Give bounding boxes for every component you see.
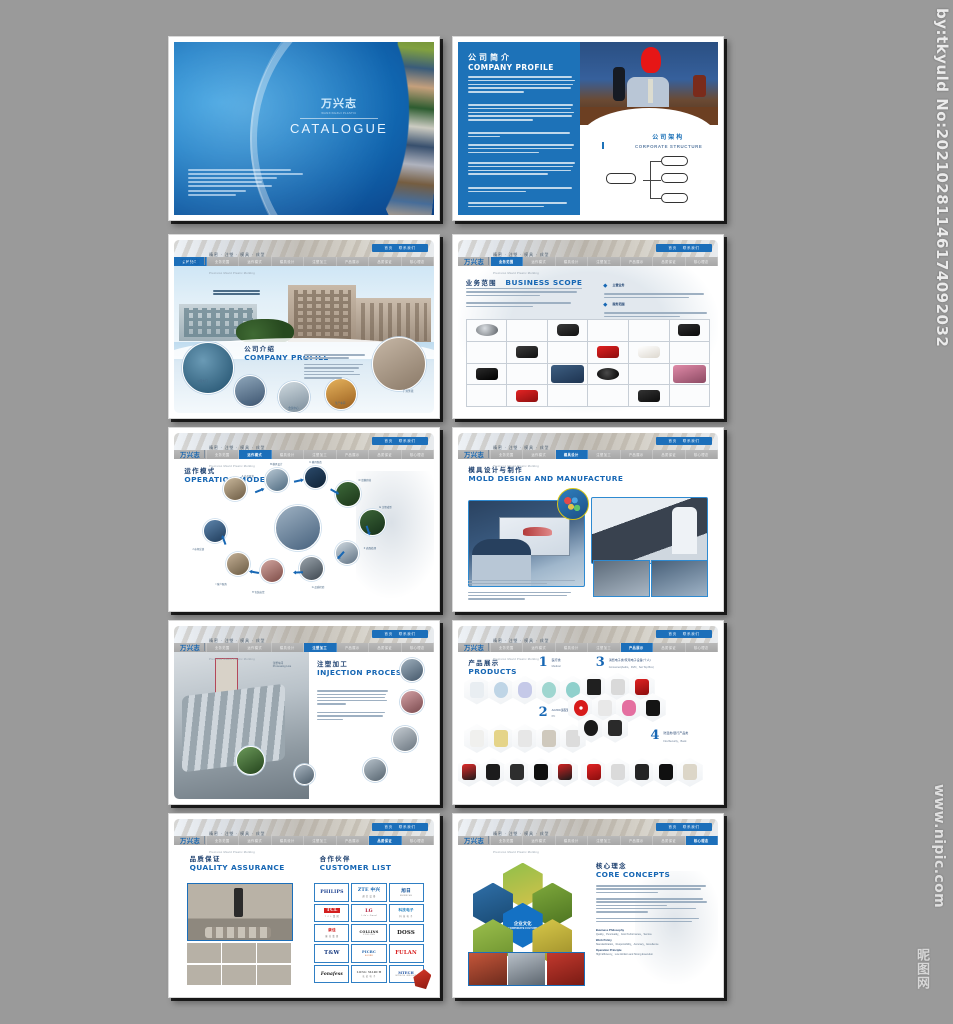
logo-separator [204, 450, 205, 458]
customer-logo: 科技电子科 技 电 子 [389, 904, 424, 922]
spread-core-concepts[interactable]: 万兴志 精密 · 注塑 · 模具 · 成型 Precision Mould Pl… [452, 813, 724, 998]
lab-thumb [257, 943, 291, 963]
core-concepts-page: 万兴志 精密 · 注塑 · 模具 · 成型 Precision Mould Pl… [458, 819, 718, 992]
org-tick-1 [650, 161, 660, 162]
workshop-photo-1 [593, 560, 650, 597]
hex-product [602, 714, 628, 743]
node-b [265, 468, 289, 492]
quality-assurance-page: 万兴志 精密 · 注塑 · 模具 · 成型 Precision Mould Pl… [174, 819, 434, 992]
scope-heading-en: BUSINESS SCOPE [505, 278, 582, 287]
scope-heading-cn: 业务范围 [466, 280, 497, 287]
bullet-diamond-icon [603, 283, 607, 287]
grid-cell [507, 320, 548, 342]
hex-product [653, 758, 679, 787]
customer-name: 康佳 [328, 928, 336, 933]
nav-item-6[interactable]: 品质保证 [369, 643, 402, 652]
scope-bullet-2: 服务范围 [604, 292, 713, 319]
customer-sub: Life's Good [361, 915, 376, 917]
injection-process-page: 万兴志 精密 · 注塑 · 模具 · 成型 Precision Mould Pl… [174, 626, 434, 799]
nav-item-3[interactable]: 模具设计 [272, 643, 305, 652]
hex-product [512, 724, 538, 753]
nav-item-7[interactable]: 核心理念 [686, 450, 719, 459]
watermark-site: www.nipic.com [931, 784, 947, 908]
left-caption-block: 注塑车间 Processing Line [273, 661, 291, 668]
step-label-g: G 品质检验 [312, 585, 325, 589]
grid-cell [629, 364, 670, 386]
spread-operation-mode[interactable]: 万兴志 精密 · 注塑 · 模具 · 成型 Precision Mould Pl… [168, 427, 440, 612]
operation-mode-page: 万兴志 精密 · 注塑 · 模具 · 成型 Precision Mould Pl… [174, 433, 434, 606]
page-tag-right: 联系我们 [399, 632, 416, 637]
customer-name: T&W [324, 950, 340, 956]
cad-model [523, 527, 552, 536]
page-tag-right: 联系我们 [683, 246, 700, 251]
nav-item-3[interactable]: 模具设计 [556, 257, 589, 266]
grid-cell [467, 342, 508, 364]
page-logo: 万兴志 精密 · 注塑 · 模具 · 成型 Precision Mould Pl… [464, 436, 549, 472]
customer-name: 旭日 [401, 888, 411, 894]
spread-cover[interactable]: 万兴志 WANXINGZHI PLASTIC CATALOGUE [168, 36, 440, 221]
core-concepts-text-panel: 核心理念 CORE CONCEPTS Business Phi [596, 861, 710, 956]
logo-separator [204, 643, 205, 651]
spread-business-scope[interactable]: 万兴志 精密 · 注塑 · 模具 · 成型 Precision Mould Pl… [452, 234, 724, 419]
grid-cell [588, 385, 629, 407]
spread-company-profile[interactable]: 万兴志 精密 · 注塑 · 模具 · 成型 Precision Mould Pl… [168, 234, 440, 419]
core-value-text-1: Quality、Punctuality、Cost Performance、Ser… [596, 932, 710, 936]
grid-cell [507, 364, 548, 386]
nav-item-4[interactable]: 注塑加工 [304, 257, 337, 266]
step-label-i: I 客户服务 [216, 582, 227, 586]
customer-heading-block: 合作伙伴 CUSTOMER LIST [320, 854, 392, 872]
desk-statue [693, 75, 706, 97]
profile-heading-en: COMPANY PROFILE [468, 63, 554, 72]
page-tag[interactable]: 首页 联系我们 [656, 823, 712, 831]
process-circle-1 [400, 658, 424, 682]
profile-paragraph-3 [468, 132, 576, 140]
nav-item-5[interactable]: 产品展示 [621, 450, 654, 459]
org-tick-2 [650, 180, 660, 181]
spread-company-profile-intro[interactable]: 公司简介 COMPANY PROFILE [452, 36, 724, 221]
structure-heading-en: CORPORATE STRUCTURE [635, 144, 702, 149]
scope-bullet-2-label: 服务范围 [613, 302, 625, 306]
nav-item-7[interactable]: 核心理念 [402, 836, 435, 845]
customer-logo: Fonafess [314, 965, 349, 983]
customer-name: DOSS [397, 930, 415, 936]
profile-paragraph-7 [468, 202, 576, 210]
node-i [226, 552, 250, 576]
grid-cell [670, 320, 711, 342]
nav-item-6[interactable]: 品质保证 [653, 257, 686, 266]
nav-item-7[interactable]: 核心理念 [402, 643, 435, 652]
page-tag-right: 联系我们 [399, 246, 416, 251]
logo-tagline-cn: 精密 · 注塑 · 模具 · 成型 [493, 638, 549, 643]
mold-body-text [468, 580, 577, 602]
photo-circle-gate [182, 342, 234, 394]
nav-item-4[interactable]: 注塑加工 [304, 836, 337, 845]
logo-separator [488, 257, 489, 265]
cmm-fixture [205, 927, 272, 938]
customer-sub: MTECH GROUP [396, 975, 417, 977]
logo-separator [204, 836, 205, 844]
category-cn-2: AC/DC适配器 [552, 708, 570, 712]
grid-cell [467, 385, 508, 407]
process-circle-2 [400, 690, 424, 714]
grid-cell [629, 385, 670, 407]
node-g [299, 556, 324, 581]
products-page: 万兴志 精密 · 注塑 · 模具 · 成型 Precision Mould Pl… [458, 626, 718, 799]
watermark-logo: 昵图网 [913, 921, 949, 1016]
lab-thumb [187, 965, 221, 985]
nav-item-3[interactable]: 模具设计 [272, 450, 305, 459]
hex-product [581, 758, 607, 787]
customer-logo: PHILIPS [314, 883, 349, 901]
photo-circle-factory [372, 337, 426, 391]
core-heading-en: CORE CONCEPTS [596, 870, 710, 879]
grid-cell [670, 385, 711, 407]
nav-item-4[interactable]: 注塑加工 [588, 836, 621, 845]
caption-factory: 厂房外观 [390, 389, 426, 393]
page-tag[interactable]: 首页 联系我们 [656, 630, 712, 638]
page-tag-left: 首页 [384, 439, 392, 444]
nav-item-6[interactable]: 品质保证 [369, 450, 402, 459]
structure-heading-cn: 公司架构 [652, 132, 684, 141]
profile-intro-page: 公司简介 COMPANY PROFILE [458, 42, 718, 215]
core-paragraph-3 [596, 918, 710, 923]
profile-heading-cn: 公司简介 [468, 52, 512, 63]
customer-name: PHILIPS [320, 890, 344, 895]
building-center [288, 285, 356, 344]
team-photo-1 [469, 953, 506, 985]
core-value-text-3: High Efficiency、Low Attrition and Strong… [596, 952, 710, 956]
logo-tagline-en: Precision Mould Plastic Molding [493, 658, 539, 661]
customer-name: LG [365, 909, 373, 914]
category-en-1: Medical [552, 665, 561, 668]
step-label-f: F 表面处理 [364, 546, 376, 550]
hexrow-medical [466, 676, 586, 705]
logo-mark: 万兴志 [464, 450, 484, 459]
scope-bullet-2-text [604, 312, 713, 317]
nav-item-3[interactable]: 模具设计 [556, 836, 589, 845]
injection-heading-block: 注塑加工 INJECTION PROCESS [317, 659, 407, 677]
page-logo: 万兴志 精密 · 注塑 · 模具 · 成型 Precision Mould Pl… [464, 822, 549, 858]
page-logo: 万兴志 精密 · 注塑 · 模具 · 成型 Precision Mould Pl… [180, 436, 265, 472]
left-caption-en: Processing Line [273, 665, 291, 668]
nav-item-7[interactable]: 核心理念 [686, 257, 719, 266]
org-connector-horizontal [643, 180, 651, 181]
logo-separator [204, 257, 205, 265]
culture-hex-cluster: 企业文化 CORPORATE CULTURE [468, 863, 582, 954]
brand-sub-text: WANXINGZHI PLASTIC [290, 112, 388, 115]
profile3-body-text [304, 354, 368, 380]
hex-product [458, 758, 482, 787]
page-tag-right: 联系我们 [399, 825, 416, 830]
category-cn-1: 医疗类 [552, 658, 561, 662]
node-a [223, 477, 247, 501]
page-tag-left: 首页 [384, 825, 392, 830]
customer-sub: SUNRISE [400, 895, 413, 897]
category-number-2: 2 [539, 705, 548, 720]
nav-item-4[interactable]: 注塑加工 [588, 643, 621, 652]
injection-machine-photo [174, 652, 309, 799]
hex-product [488, 724, 514, 753]
step-label-j: J 市场反馈 [192, 547, 204, 551]
customer-sub: 科 技 电 子 [399, 914, 412, 918]
grid-cell [629, 342, 670, 364]
injection-heading-cn: 注塑加工 [317, 659, 407, 668]
profile-paragraph-5 [468, 162, 576, 177]
mold-heading-en: MOLD DESIGN AND MANUFACTURE [468, 474, 623, 483]
spread-mold-design[interactable]: 万兴志 精密 · 注塑 · 模具 · 成型 Precision Mould Pl… [452, 427, 724, 612]
hex-product [677, 758, 703, 787]
grid-cell [548, 364, 589, 386]
category-en-4: Fire/Security、Bank [663, 739, 686, 743]
lab-thumb [257, 965, 291, 985]
nav-item-7[interactable]: 核心理念 [686, 643, 719, 652]
node-f [335, 541, 359, 565]
nav-item-3[interactable]: 模具设计 [272, 257, 305, 266]
process-circle-5 [294, 764, 315, 785]
customer-name: COLLINS [360, 930, 379, 934]
nav-item-5[interactable]: 产品展示 [621, 643, 654, 652]
nav-item-7[interactable]: 核心理念 [402, 257, 435, 266]
step-label-h: H 包装出货 [252, 590, 265, 594]
flow-arrow [254, 489, 261, 494]
profile-paragraph-6 [468, 187, 576, 195]
logo-separator [488, 643, 489, 651]
lab-thumb [187, 943, 221, 963]
customer-name: 科技电子 [398, 908, 413, 913]
customer-logo: COLLINSCOLLINS [351, 924, 386, 942]
page-tag[interactable]: 首页 联系我们 [656, 244, 712, 252]
core-paragraph-1 [596, 885, 710, 893]
necktie [648, 79, 653, 103]
nav-item-4[interactable]: 注塑加工 [588, 450, 621, 459]
cover-address-block [188, 169, 308, 198]
org-tick-3 [650, 198, 660, 199]
nav-item-4[interactable]: 注塑加工 [304, 450, 337, 459]
grid-cell [467, 320, 508, 342]
customer-name: PICRC [362, 950, 376, 954]
nav-item-4[interactable]: 注塑加工 [588, 257, 621, 266]
category-cn-3: 消费电子类/家用电子设备(个人) [609, 658, 651, 662]
mold-design-page: 万兴志 精密 · 注塑 · 模具 · 成型 Precision Mould Pl… [458, 433, 718, 606]
category-number-4: 4 [650, 728, 659, 743]
customer-sub: 长 征 电 子 [362, 974, 375, 978]
customer-logo: FULAN [389, 944, 424, 962]
grid-cell [467, 364, 508, 386]
page-tag[interactable]: 首页 联系我们 [656, 437, 712, 445]
team-photo-strip [468, 952, 584, 986]
business-scope-page: 万兴志 精密 · 注塑 · 模具 · 成型 Precision Mould Pl… [458, 240, 718, 413]
profile-paragraph-2 [468, 104, 576, 123]
page-logo: 万兴志 精密 · 注塑 · 模具 · 成型 Precision Mould Pl… [180, 629, 265, 665]
mold-parts-render [563, 495, 582, 514]
hexrow-bottom-left [458, 758, 578, 787]
customer-sub: 40398 [365, 955, 373, 957]
page-tag-right: 联系我们 [683, 439, 700, 444]
page-tag-left: 首页 [384, 246, 392, 251]
grid-cell [548, 320, 589, 342]
structure-accent-bar [602, 142, 604, 149]
customer-logo-grid: PHILIPS ZTE 中兴通 信 设 备 旭日SUNRISE TCLT C L… [314, 883, 423, 983]
flow-arrow [252, 570, 259, 574]
page-tag[interactable]: 首页 联系我们 [372, 630, 428, 638]
customer-logo: ZTE 中兴通 信 设 备 [351, 883, 386, 901]
caption-meeting: 生产车间 [322, 401, 358, 405]
nav-item-5[interactable]: 产品展示 [621, 257, 654, 266]
redacted-face [641, 47, 661, 73]
logo-tagline-cn: 精密 · 注塑 · 模具 · 成型 [209, 445, 265, 450]
nav-item-3[interactable]: 模具设计 [272, 836, 305, 845]
grid-cell [507, 342, 548, 364]
grid-cell [548, 385, 589, 407]
nav-item-5[interactable]: 产品展示 [337, 257, 370, 266]
nav-item-5[interactable]: 产品展示 [337, 836, 370, 845]
hex-product [552, 758, 578, 787]
page-logo: 万兴志 精密 · 注塑 · 模具 · 成型 Precision Mould Pl… [180, 822, 265, 858]
profile-paragraph-1 [468, 76, 576, 95]
customer-name: ZTE 中兴 [358, 887, 380, 893]
customer-logo: TCLT C L 集 团 [314, 904, 349, 922]
customer-heading-en: CUSTOMER LIST [320, 863, 392, 872]
scope-bullet-1-label: 主营业务 [613, 283, 625, 287]
office-chair [613, 67, 625, 101]
grid-cell [588, 364, 629, 386]
customer-logo: T&W [314, 944, 349, 962]
customer-name: TCL [324, 908, 341, 913]
nav-item-6[interactable]: 品质保证 [369, 257, 402, 266]
machine-rail [182, 684, 285, 773]
page-logo: 万兴志 精密 · 注塑 · 模具 · 成型 Precision Mould Pl… [180, 243, 265, 279]
step-label-c: C 模具制造 [309, 460, 322, 464]
grid-cell [588, 342, 629, 364]
brand-logo-text: 万兴志 [321, 95, 357, 111]
cover-brand-block: 万兴志 WANXINGZHI PLASTIC CATALOGUE [290, 94, 388, 136]
nav-item-6[interactable]: 品质保证 [653, 836, 686, 845]
page-tag-right: 联系我们 [683, 632, 700, 637]
injection-heading-en: INJECTION PROCESS [317, 668, 407, 677]
team-photo-3 [547, 953, 584, 985]
nav-item-6[interactable]: 品质保证 [369, 836, 402, 845]
step-label-e: E 注塑成型 [379, 505, 391, 509]
nav-item-5[interactable]: 产品展示 [337, 450, 370, 459]
customer-logo: DOSS [389, 924, 424, 942]
nav-item-6[interactable]: 品质保证 [653, 643, 686, 652]
nav-item-4[interactable]: 注塑加工 [304, 643, 337, 652]
customer-name: LONG MARCH [357, 970, 382, 974]
caption-office: 办公区域 [229, 400, 265, 404]
logo-tagline-en: Precision Mould Plastic Molding [209, 658, 255, 661]
customer-name: Fonafess [321, 971, 343, 976]
hex-product [605, 758, 631, 787]
grid-cell [588, 320, 629, 342]
scope-body-text [466, 288, 586, 309]
team-photo-2 [508, 953, 545, 985]
caption-gate: 公司大门 [184, 379, 220, 383]
step-label-d: D 试模验收 [359, 478, 372, 482]
logo-tagline-cn: 精密 · 注塑 · 模具 · 成型 [493, 445, 549, 450]
quality-heading-en: QUALITY ASSURANCE [190, 863, 285, 872]
spread-injection-process[interactable]: 万兴志 精密 · 注塑 · 模具 · 成型 Precision Mould Pl… [168, 620, 440, 805]
page-tag[interactable]: 首页 联系我们 [372, 244, 428, 252]
hex-product [578, 714, 604, 743]
logo-mark: 万兴志 [180, 836, 200, 845]
watermark-id: by:tkyuld No:20210281146174092032 [933, 8, 951, 347]
logo-tagline-en: Precision Mould Plastic Molding [209, 465, 255, 468]
mold-parts-bubble [557, 488, 589, 520]
hex-product [480, 758, 506, 787]
step-label-a: A 产品开发 [242, 474, 254, 478]
profile-paragraph-4 [468, 144, 576, 155]
cnc-machine-photo [591, 497, 707, 564]
nav-item-6[interactable]: 品质保证 [653, 450, 686, 459]
nav-item-5[interactable]: 产品展示 [621, 836, 654, 845]
spread-quality-assurance[interactable]: 万兴志 精密 · 注塑 · 模具 · 成型 Precision Mould Pl… [168, 813, 440, 998]
nav-item-7[interactable]: 核心理念 [686, 836, 719, 845]
logo-separator [488, 836, 489, 844]
flow-arrow [293, 479, 300, 483]
node-c [304, 466, 327, 489]
page-logo: 万兴志 精密 · 注塑 · 模具 · 成型 Precision Mould Pl… [464, 629, 549, 665]
lab-equipment-thumbnails [187, 943, 291, 984]
nav-item-3[interactable]: 模具设计 [556, 643, 589, 652]
page-tag-left: 首页 [668, 825, 676, 830]
hex-product [536, 724, 562, 753]
profile3-heading-cn: 公司介绍 [244, 344, 329, 353]
page-tag-left: 首页 [668, 439, 676, 444]
caption-workshop: 会议中心 [275, 406, 311, 410]
logo-separator [488, 450, 489, 458]
logo-tagline-en: Precision Mould Plastic Molding [493, 851, 539, 854]
process-circle-3 [392, 726, 418, 752]
org-node-1 [661, 156, 688, 166]
spread-products[interactable]: 万兴志 精密 · 注塑 · 模具 · 成型 Precision Mould Pl… [452, 620, 724, 805]
customer-name: MTECH [398, 971, 414, 975]
customer-name: FULAN [395, 950, 417, 956]
logo-tagline-cn: 精密 · 注塑 · 模具 · 成型 [493, 831, 549, 836]
hex-product [504, 758, 530, 787]
hex-product [640, 693, 666, 722]
nav-item-5[interactable]: 产品展示 [337, 643, 370, 652]
logo-tagline-cn: 精密 · 注塑 · 模具 · 成型 [209, 252, 265, 257]
logo-tagline-cn: 精密 · 注塑 · 模具 · 成型 [493, 252, 549, 257]
category-en-3: Consumer(Audio、DVD、Set Top Box) [609, 665, 654, 669]
cnc-worker [672, 507, 697, 554]
product-grid [466, 319, 710, 407]
node-e [359, 509, 386, 536]
nav-item-7[interactable]: 核心理念 [402, 450, 435, 459]
cover-title: CATALOGUE [290, 121, 388, 136]
bullet-diamond-icon [603, 302, 607, 306]
page-tag[interactable]: 首页 联系我们 [372, 437, 428, 445]
customer-sub: COLLINS [363, 934, 375, 936]
page-tag-right: 联系我们 [683, 825, 700, 830]
logo-tagline-en: Precision Mould Plastic Molding [209, 272, 255, 275]
page-tag-left: 首页 [384, 632, 392, 637]
customer-heading-cn: 合作伙伴 [320, 854, 392, 863]
hexrow-adapters [466, 724, 586, 753]
logo-tagline-en: Precision Mould Plastic Molding [209, 851, 255, 854]
hex-product [488, 676, 514, 705]
products-heading-en: PRODUCTS [468, 667, 517, 676]
flow-arrow [296, 571, 303, 574]
grid-cell [670, 342, 711, 364]
hex-product [464, 724, 490, 753]
customer-sub: 康 佳 集 团 [325, 934, 338, 938]
org-node-2 [661, 173, 688, 183]
nav-item-3[interactable]: 模具设计 [556, 450, 589, 459]
page-tag[interactable]: 首页 联系我们 [372, 823, 428, 831]
hex-product [629, 758, 655, 787]
